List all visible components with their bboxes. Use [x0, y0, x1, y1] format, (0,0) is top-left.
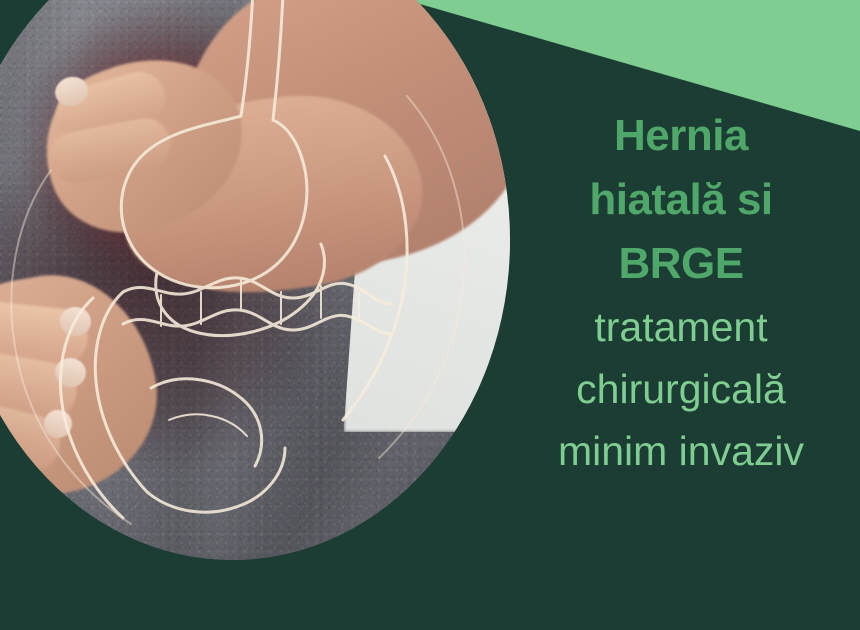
subheadline-line-2: chirurgicală: [505, 358, 857, 420]
headline-line-2: hiatală si: [505, 168, 857, 232]
headline: Hernia hiatală si BRGE: [505, 104, 857, 296]
subheadline-line-1: tratament: [505, 296, 857, 358]
poster-canvas: Hernia hiatală si BRGE tratament chirurg…: [0, 0, 860, 630]
subheadline: tratament chirurgicală minim invaziv: [505, 296, 857, 482]
patient-photo: [0, 0, 510, 560]
headline-line-3: BRGE: [505, 232, 857, 296]
text-block: Hernia hiatală si BRGE tratament chirurg…: [505, 104, 857, 482]
headline-line-1: Hernia: [505, 104, 857, 168]
subheadline-line-3: minim invaziv: [505, 420, 857, 482]
photo-circle-mask: [0, 0, 510, 560]
